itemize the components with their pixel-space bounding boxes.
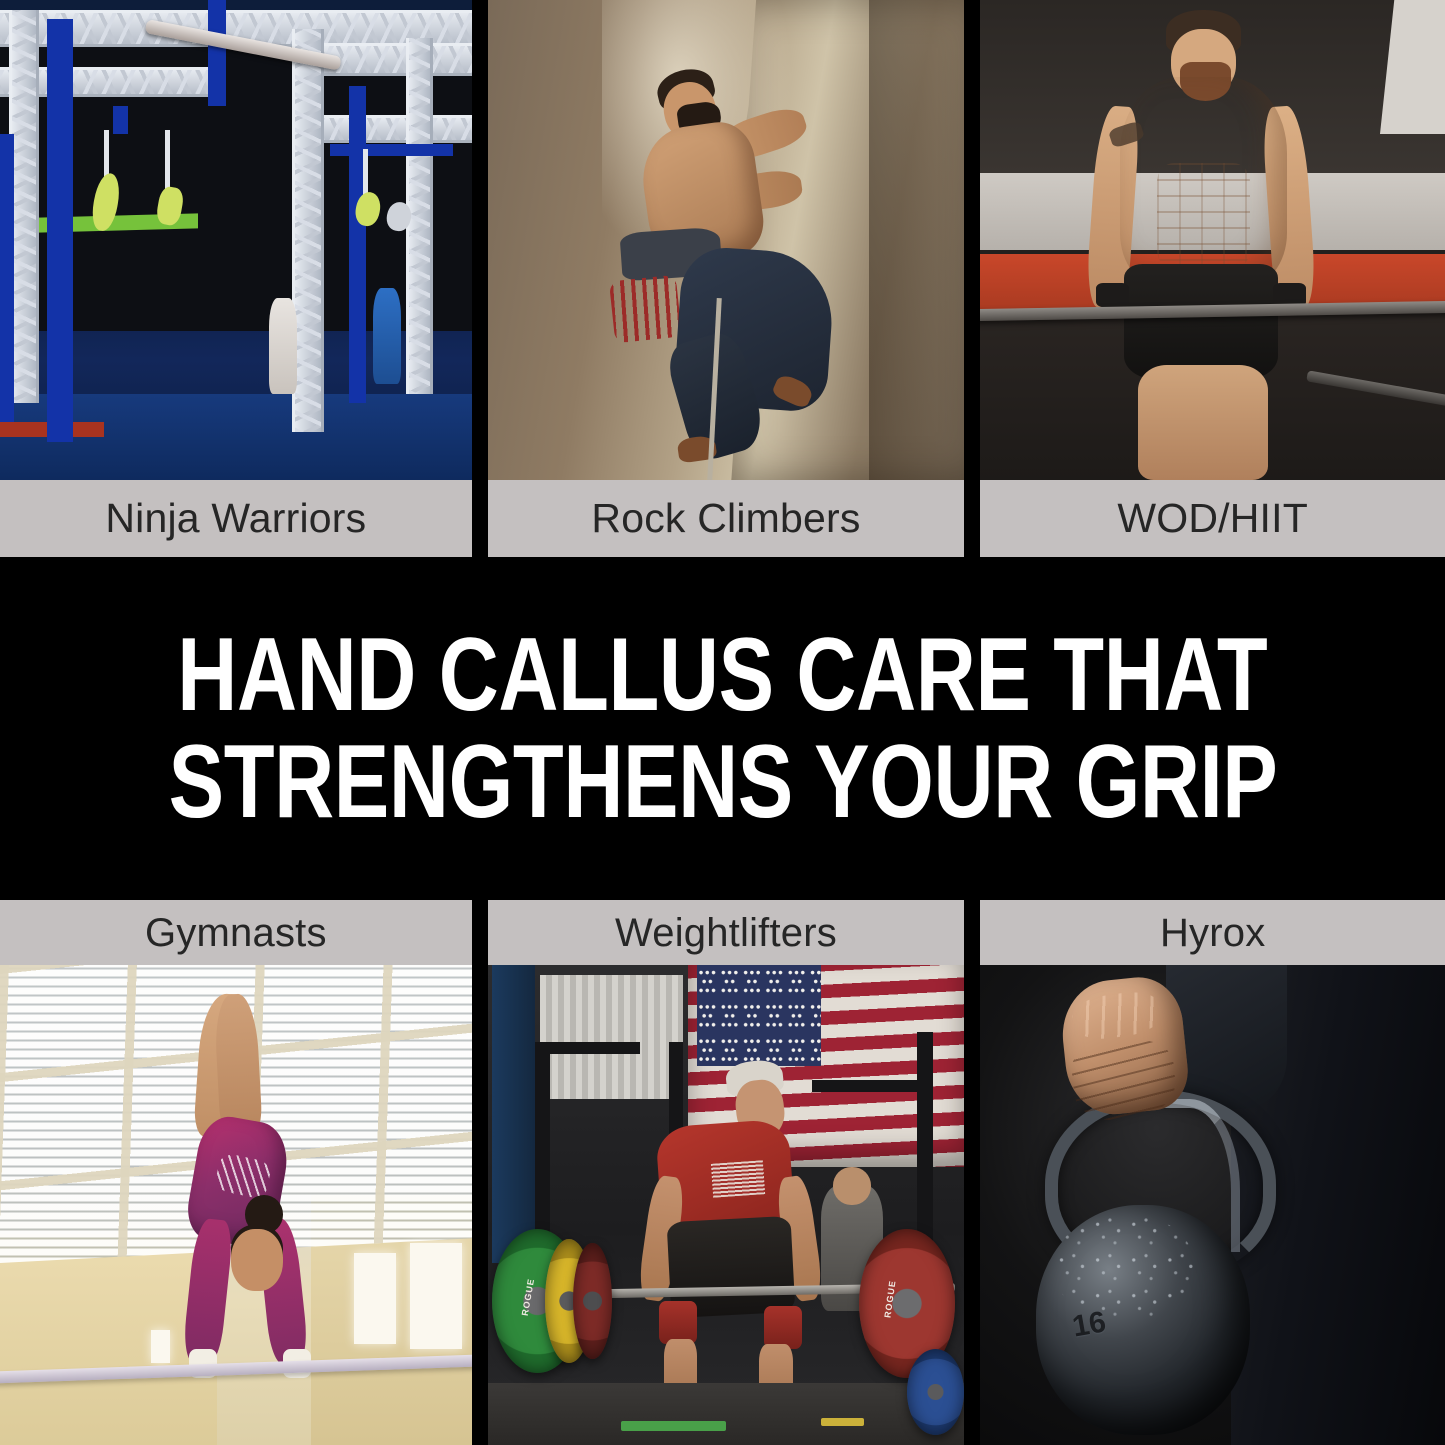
headline-line-2: STRENGTHENS YOUR GRIP [168, 729, 1277, 835]
label-gymnasts: Gymnasts [145, 913, 327, 953]
rogue-brand-text-left: ROGUE [520, 1278, 536, 1317]
top-photo-ninja-warriors [0, 0, 472, 480]
label-hyrox: Hyrox [1160, 913, 1265, 953]
label-cell-rock-climbers: Rock Climbers [488, 480, 965, 557]
bottom-photo-gymnasts [0, 965, 472, 1445]
label-weightlifters: Weightlifters [615, 913, 837, 953]
grid-gutter [964, 965, 980, 1445]
bumper-plate-darkred [573, 1243, 611, 1358]
grid-gutter [472, 965, 488, 1445]
label-cell-weightlifters: Weightlifters [488, 900, 965, 965]
top-photo-rock-climbers [488, 0, 965, 480]
grid-gutter [964, 0, 980, 480]
top-photo-row [0, 0, 1445, 480]
label-cell-wod-hiit: WOD/HIIT [980, 480, 1445, 557]
label-cell-gymnasts: Gymnasts [0, 900, 472, 965]
bottom-photo-row: ROGUE ROGUE [0, 965, 1445, 1445]
grid-gutter [472, 900, 488, 965]
headline-line-1: HAND CALLUS CARE THAT [177, 622, 1267, 728]
top-photo-wod-hiit [980, 0, 1445, 480]
bottom-label-row: Gymnasts Weightlifters Hyrox [0, 900, 1445, 965]
rogue-brand-text-right: ROGUE [882, 1280, 897, 1319]
label-cell-hyrox: Hyrox [980, 900, 1445, 965]
label-rock-climbers: Rock Climbers [591, 498, 860, 539]
bottom-photo-hyrox: 16 [980, 965, 1445, 1445]
hand-callus-care-poster: Ninja Warriors Rock Climbers WOD/HIIT HA… [0, 0, 1445, 1445]
grid-gutter [964, 900, 980, 965]
grid-gutter [472, 480, 488, 557]
grid-gutter [472, 0, 488, 480]
headline-band: HAND CALLUS CARE THAT STRENGTHENS YOUR G… [0, 557, 1445, 900]
label-cell-ninja-warriors: Ninja Warriors [0, 480, 472, 557]
label-wod-hiit: WOD/HIIT [1117, 498, 1308, 539]
bottom-photo-weightlifters: ROGUE ROGUE [488, 965, 965, 1445]
top-label-row: Ninja Warriors Rock Climbers WOD/HIIT [0, 480, 1445, 557]
grid-gutter [964, 480, 980, 557]
label-ninja-warriors: Ninja Warriors [105, 498, 366, 539]
